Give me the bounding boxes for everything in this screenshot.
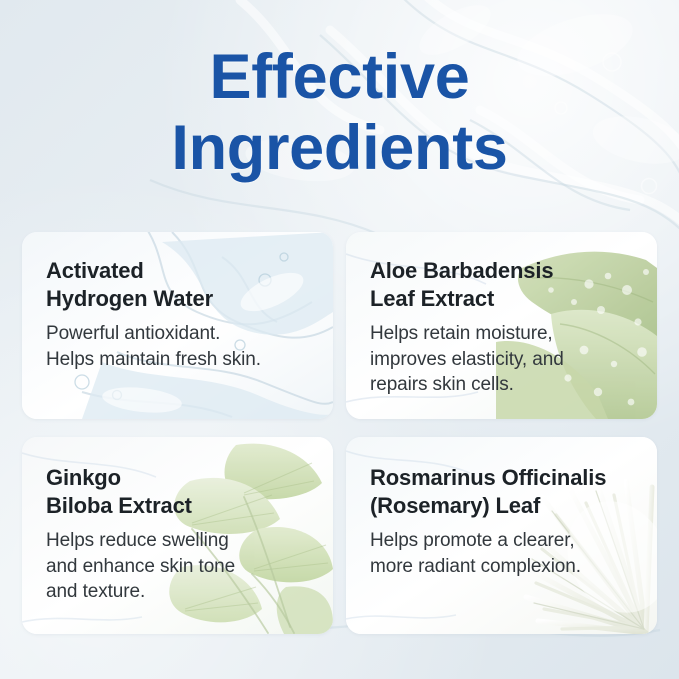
ingredient-card-activated-hydrogen-water: Activated Hydrogen Water Powerful antiox… [22,232,333,419]
ingredient-card-grid: Activated Hydrogen Water Powerful antiox… [22,232,657,634]
ingredient-card-aloe-barbadensis-leaf-extract: Aloe Barbadensis Leaf Extract Helps reta… [346,232,657,419]
ingredient-description: Helps promote a clearer, more radiant co… [370,528,635,579]
ingredient-card-ginkgo-biloba-extract: Ginkgo Biloba Extract Helps reduce swell… [22,437,333,634]
ingredient-title: Aloe Barbadensis Leaf Extract [370,257,635,312]
page-title: Effective Ingredients [0,42,679,183]
ingredient-description: Helps retain moisture, improves elastici… [370,321,635,397]
page-title-line-2: Ingredients [0,113,679,184]
ingredient-title: Rosmarinus Officinalis (Rosemary) Leaf [370,464,635,519]
ingredient-title: Activated Hydrogen Water [46,257,311,312]
ingredient-description: Powerful antioxidant. Helps maintain fre… [46,321,311,372]
ingredient-title: Ginkgo Biloba Extract [46,464,311,519]
ingredient-card-rosmarinus-officinalis-rosemary-leaf: Rosmarinus Officinalis (Rosemary) Leaf H… [346,437,657,634]
page-title-line-1: Effective [0,42,679,113]
ingredients-infographic: Effective Ingredients [0,0,679,679]
ingredient-description: Helps reduce swelling and enhance skin t… [46,528,311,604]
